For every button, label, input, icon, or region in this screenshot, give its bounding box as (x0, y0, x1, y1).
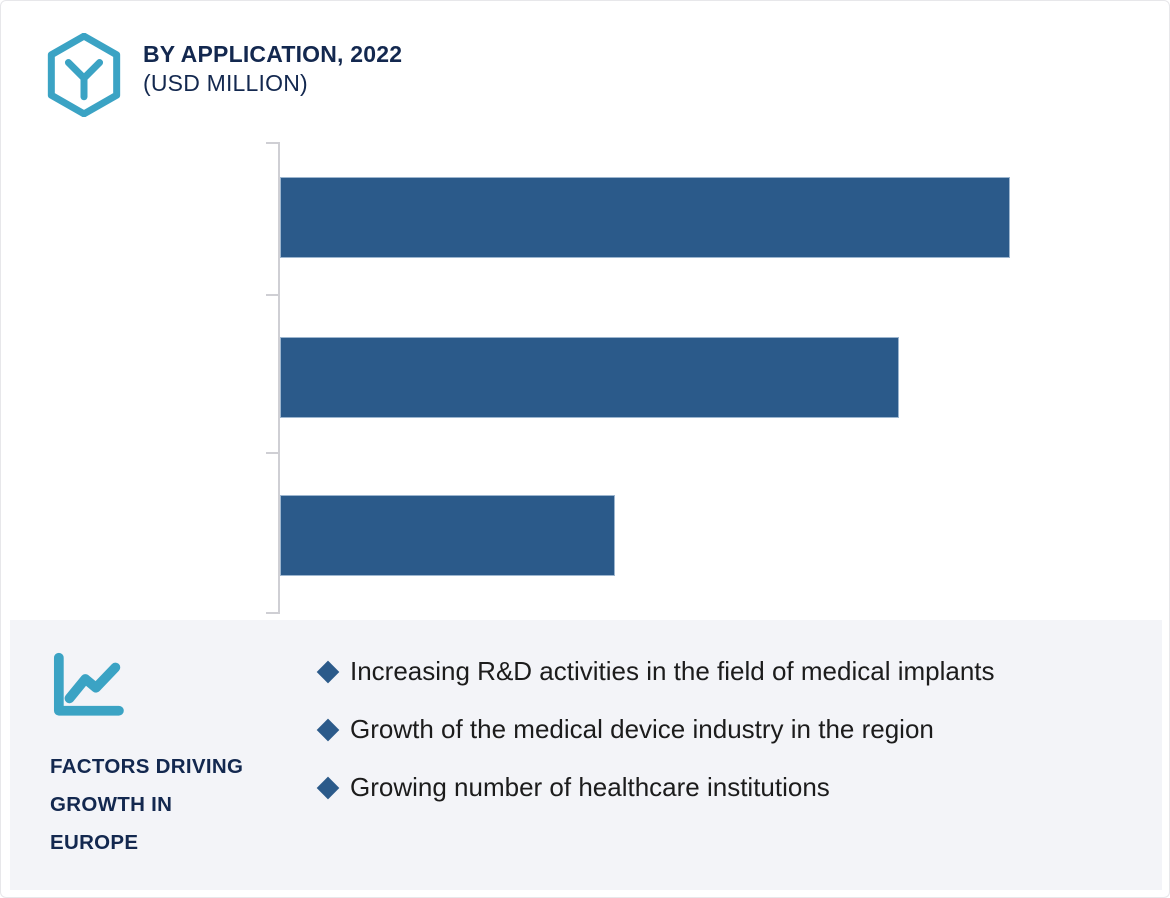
list-item-text: Growth of the medical device industry in… (350, 712, 934, 748)
factors-panel-left: FACTORS DRIVING GROWTH IN EUROPE (10, 620, 320, 862)
factors-panel: FACTORS DRIVING GROWTH IN EUROPE Increas… (10, 620, 1162, 890)
list-item: Growing number of healthcare institution… (320, 770, 1152, 806)
header-text: BY APPLICATION, 2022 (USD MILLION) (143, 31, 402, 99)
bar-dental (280, 177, 1010, 258)
header: BY APPLICATION, 2022 (USD MILLION) (45, 31, 402, 117)
list-item-text: Growing number of healthcare institution… (350, 770, 830, 806)
factors-title: FACTORS DRIVING GROWTH IN EUROPE (50, 748, 320, 862)
list-item: Increasing R&D activities in the field o… (320, 654, 1152, 690)
bar-group-orthopedics: Orthopedics (280, 337, 899, 418)
list-item-text: Increasing R&D activities in the field o… (350, 654, 995, 690)
bar-chart: Dental Orthopedics Biomedical (1, 131, 1170, 626)
chart-subtitle: (USD MILLION) (143, 69, 402, 99)
factors-title-line-3: EUROPE (50, 824, 320, 862)
axis-tick (266, 452, 279, 454)
chart-title: BY APPLICATION, 2022 (143, 40, 402, 69)
factors-title-line-1: FACTORS DRIVING (50, 748, 320, 786)
line-chart-growth-icon (50, 652, 126, 720)
diamond-bullet-icon (317, 776, 340, 799)
list-item: Growth of the medical device industry in… (320, 712, 1152, 748)
bar-biomedical (280, 495, 615, 576)
bar-orthopedics (280, 337, 899, 418)
diamond-bullet-icon (317, 719, 340, 742)
diamond-bullet-icon (317, 661, 340, 684)
axis-tick (266, 142, 279, 144)
hexagon-y-icon (45, 33, 123, 117)
axis-tick (266, 294, 279, 296)
infographic-card: BY APPLICATION, 2022 (USD MILLION) Denta… (0, 0, 1170, 898)
bar-group-biomedical: Biomedical (280, 495, 615, 576)
bar-group-dental: Dental (280, 177, 1010, 258)
axis-tick (266, 612, 279, 614)
factors-list: Increasing R&D activities in the field o… (320, 620, 1162, 806)
factors-title-line-2: GROWTH IN (50, 786, 320, 824)
